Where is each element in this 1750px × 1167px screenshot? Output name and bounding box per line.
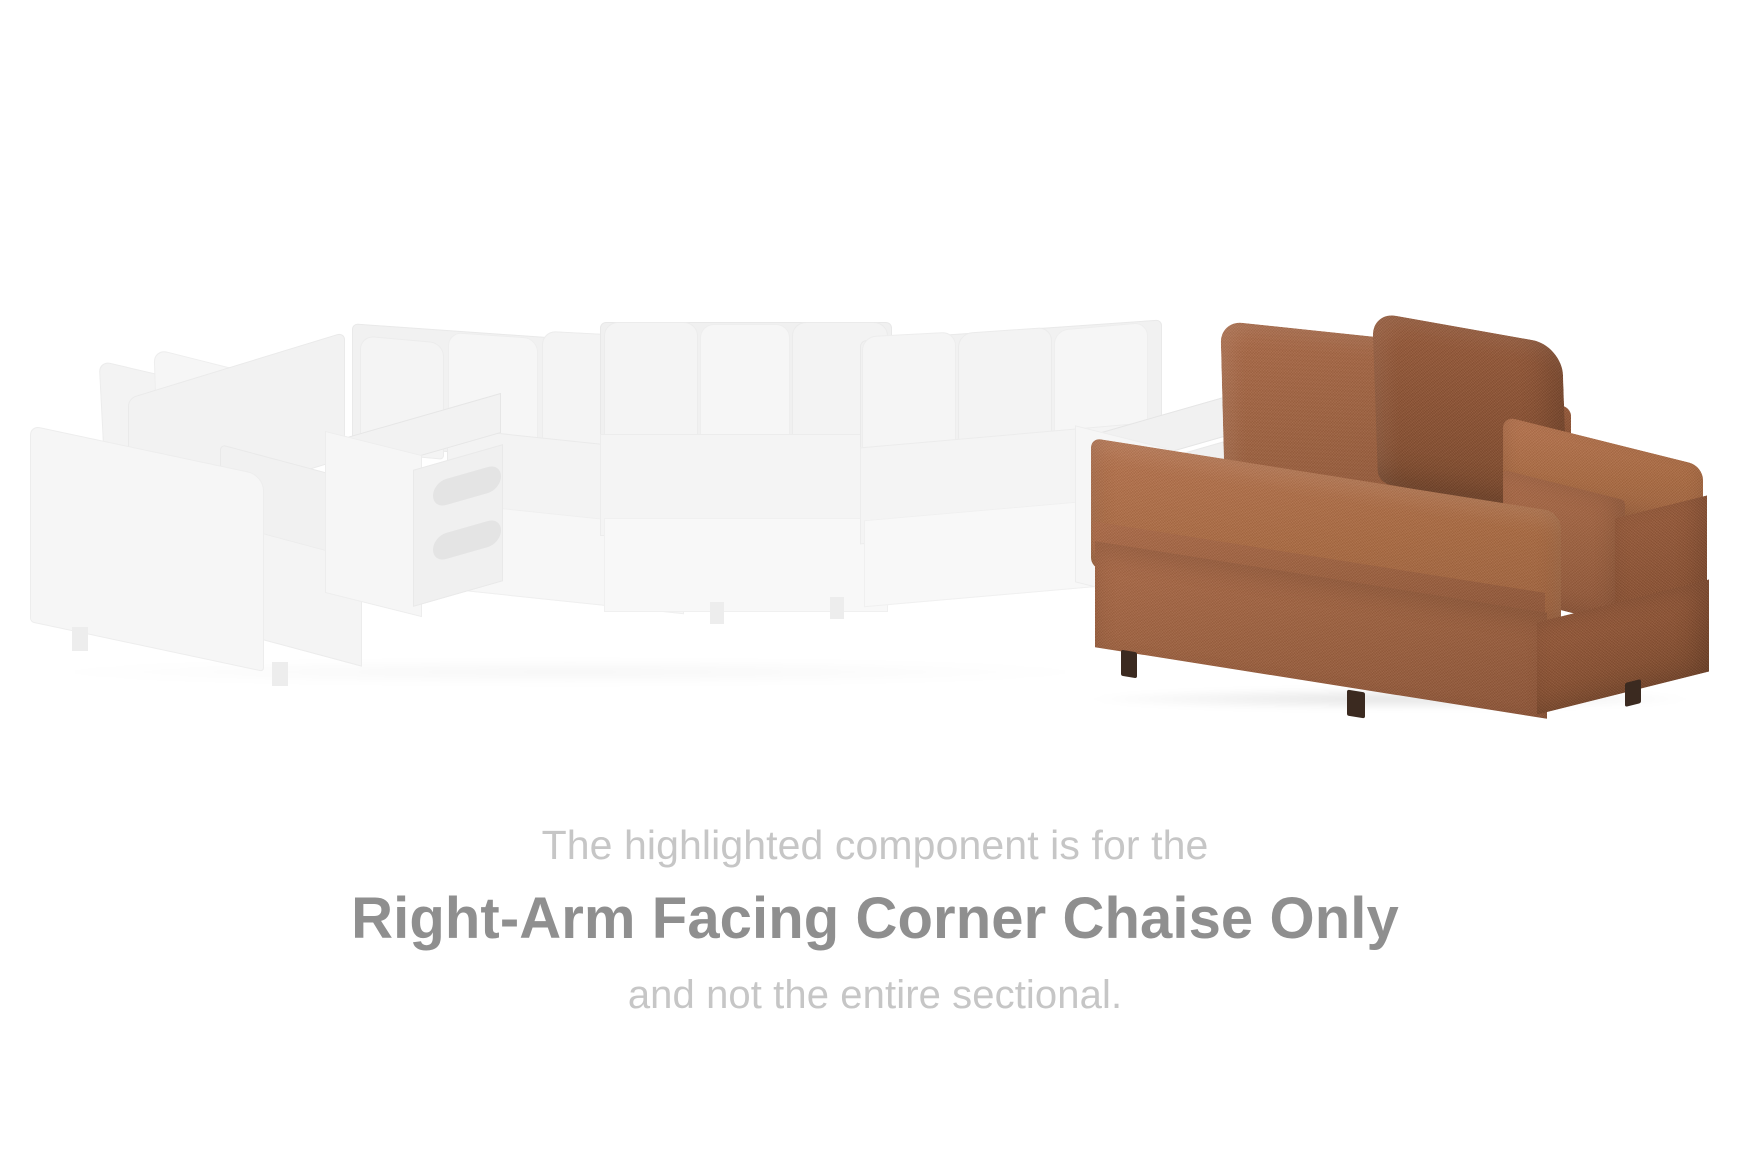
faded-leg bbox=[710, 602, 724, 624]
highlighted-right-arm-facing-corner-chaise bbox=[1085, 325, 1725, 705]
faded-left-arm-sofa bbox=[30, 355, 330, 655]
faded-storage-console-left bbox=[325, 415, 500, 625]
chaise-leg bbox=[1121, 650, 1137, 679]
faded-leg bbox=[272, 662, 288, 686]
faded-console-front bbox=[325, 431, 422, 617]
chaise-leg bbox=[1347, 690, 1365, 719]
faded-back-cushion bbox=[604, 322, 698, 450]
caption-block: The highlighted component is for the Rig… bbox=[0, 820, 1750, 1020]
faded-leg bbox=[72, 627, 88, 651]
faded-base bbox=[604, 518, 888, 612]
caption-component-name: Right-Arm Facing Corner Chaise Only bbox=[0, 885, 1750, 953]
faded-back-cushion bbox=[700, 324, 790, 450]
ghost-sectional-shadow bbox=[40, 660, 1100, 684]
faded-leg bbox=[830, 597, 844, 619]
faded-corner-wedge bbox=[600, 322, 890, 632]
chaise-leg bbox=[1625, 679, 1641, 707]
product-image-stage bbox=[0, 0, 1750, 800]
caption-intro-text: The highlighted component is for the bbox=[0, 820, 1750, 871]
product-detail-image: The highlighted component is for the Rig… bbox=[0, 0, 1750, 1167]
caption-disclaimer-text: and not the entire sectional. bbox=[0, 970, 1750, 1020]
